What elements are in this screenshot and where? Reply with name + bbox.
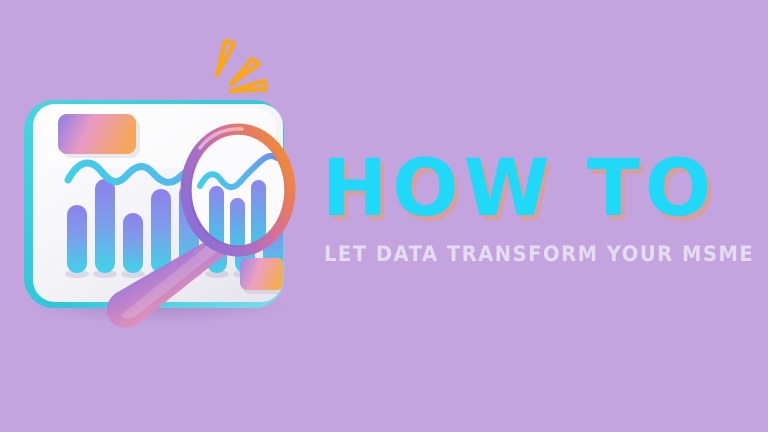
bar-1: [67, 205, 87, 273]
bar-2: [95, 179, 115, 273]
illustration-3d-analytics: [0, 0, 330, 432]
card-footer-pill: [240, 258, 287, 294]
bar-3: [123, 213, 143, 273]
sparkle-icon-2: [231, 59, 259, 84]
headline-wrap: HOW TO HOW TO: [322, 150, 752, 228]
page-subtitle: LET DATA TRANSFORM YOUR MSME: [324, 242, 722, 266]
poster-canvas: HOW TO HOW TO LET DATA TRANSFORM YOUR MS…: [0, 0, 768, 432]
sparkle-icon-1: [217, 41, 234, 75]
bar-4: [151, 189, 171, 273]
page-title: HOW TO: [322, 150, 716, 228]
magnifier-glass: [186, 129, 292, 251]
text-block: HOW TO HOW TO LET DATA TRANSFORM YOUR MS…: [322, 150, 752, 266]
card-header-pill: [58, 114, 140, 158]
sparkle-group: [217, 41, 266, 91]
